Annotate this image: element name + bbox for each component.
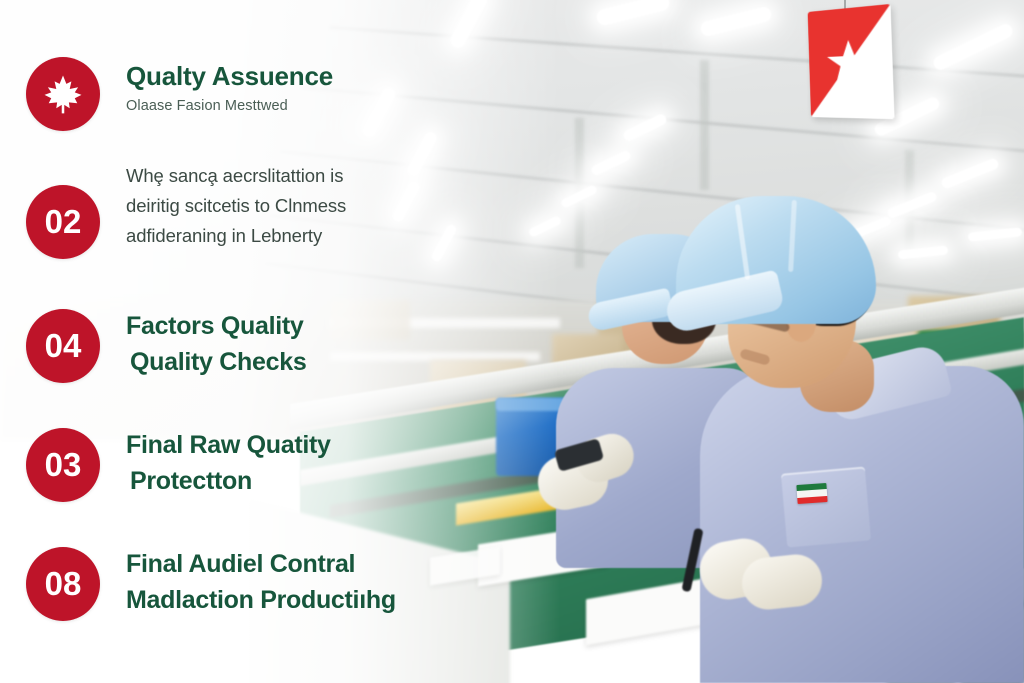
item-texts: Whȩ sanca̧ aecrslitattion is deiritig s… bbox=[126, 185, 346, 251]
page-subtitle: Olaase Fasion Mesttwed bbox=[126, 96, 333, 116]
paragraph-line: adfideraning in Lebnerty bbox=[126, 221, 346, 251]
item-number: 02 bbox=[45, 203, 82, 241]
header-row: Qualty Assuence Olaase Fasion Mesttwed bbox=[26, 57, 333, 131]
item-number-badge: 08 bbox=[26, 547, 100, 621]
list-item[interactable]: 02 Whȩ sanca̧ aecrslitattion is deiriti… bbox=[26, 185, 346, 259]
item-title: Final Audiel Contral Madlaction Producti… bbox=[126, 547, 396, 618]
list-item[interactable]: 08 Final Audiel Contral Madlaction Produ… bbox=[26, 547, 396, 621]
item-number: 03 bbox=[45, 446, 82, 484]
text-overlay: Qualty Assuence Olaase Fasion Mesttwed 0… bbox=[0, 0, 1024, 683]
item-number-badge: 04 bbox=[26, 309, 100, 383]
item-title: Factors Quality Quality Checks bbox=[126, 309, 306, 380]
list-item[interactable]: 04 Factors Quality Quality Checks bbox=[26, 309, 306, 383]
body-paragraph: Whȩ sanca̧ aecrslitattion is deiritig s… bbox=[126, 161, 346, 251]
item-title-line: Quality Checks bbox=[126, 345, 306, 381]
item-title-line: Madlaction Productiıhg bbox=[126, 583, 396, 619]
item-texts: Final Audiel Contral Madlaction Producti… bbox=[126, 547, 396, 618]
page-title: Qualty Assuence bbox=[126, 61, 333, 91]
paragraph-line: Whȩ sanca̧ aecrslitattion is bbox=[126, 161, 346, 191]
paragraph-line: deiritig scitcetis to Clnmess bbox=[126, 191, 346, 221]
maple-leaf-icon bbox=[42, 73, 84, 115]
item-title: Final Raw Quatity Protectton bbox=[126, 428, 331, 499]
header-texts: Qualty Assuence Olaase Fasion Mesttwed bbox=[126, 57, 333, 116]
poster-canvas: Qualty Assuence Olaase Fasion Mesttwed 0… bbox=[0, 0, 1024, 683]
item-title-line: Factors Quality bbox=[126, 309, 306, 345]
item-texts: Factors Quality Quality Checks bbox=[126, 309, 306, 380]
list-item[interactable]: 03 Final Raw Quatity Protectton bbox=[26, 428, 331, 502]
item-number: 08 bbox=[45, 565, 82, 603]
item-title-line: Protectton bbox=[126, 464, 331, 500]
maple-leaf-badge bbox=[26, 57, 100, 131]
item-title-line: Final Audiel Contral bbox=[126, 547, 396, 583]
item-texts: Final Raw Quatity Protectton bbox=[126, 428, 331, 499]
item-number: 04 bbox=[45, 327, 82, 365]
item-number-badge: 02 bbox=[26, 185, 100, 259]
item-number-badge: 03 bbox=[26, 428, 100, 502]
item-title-line: Final Raw Quatity bbox=[126, 428, 331, 464]
